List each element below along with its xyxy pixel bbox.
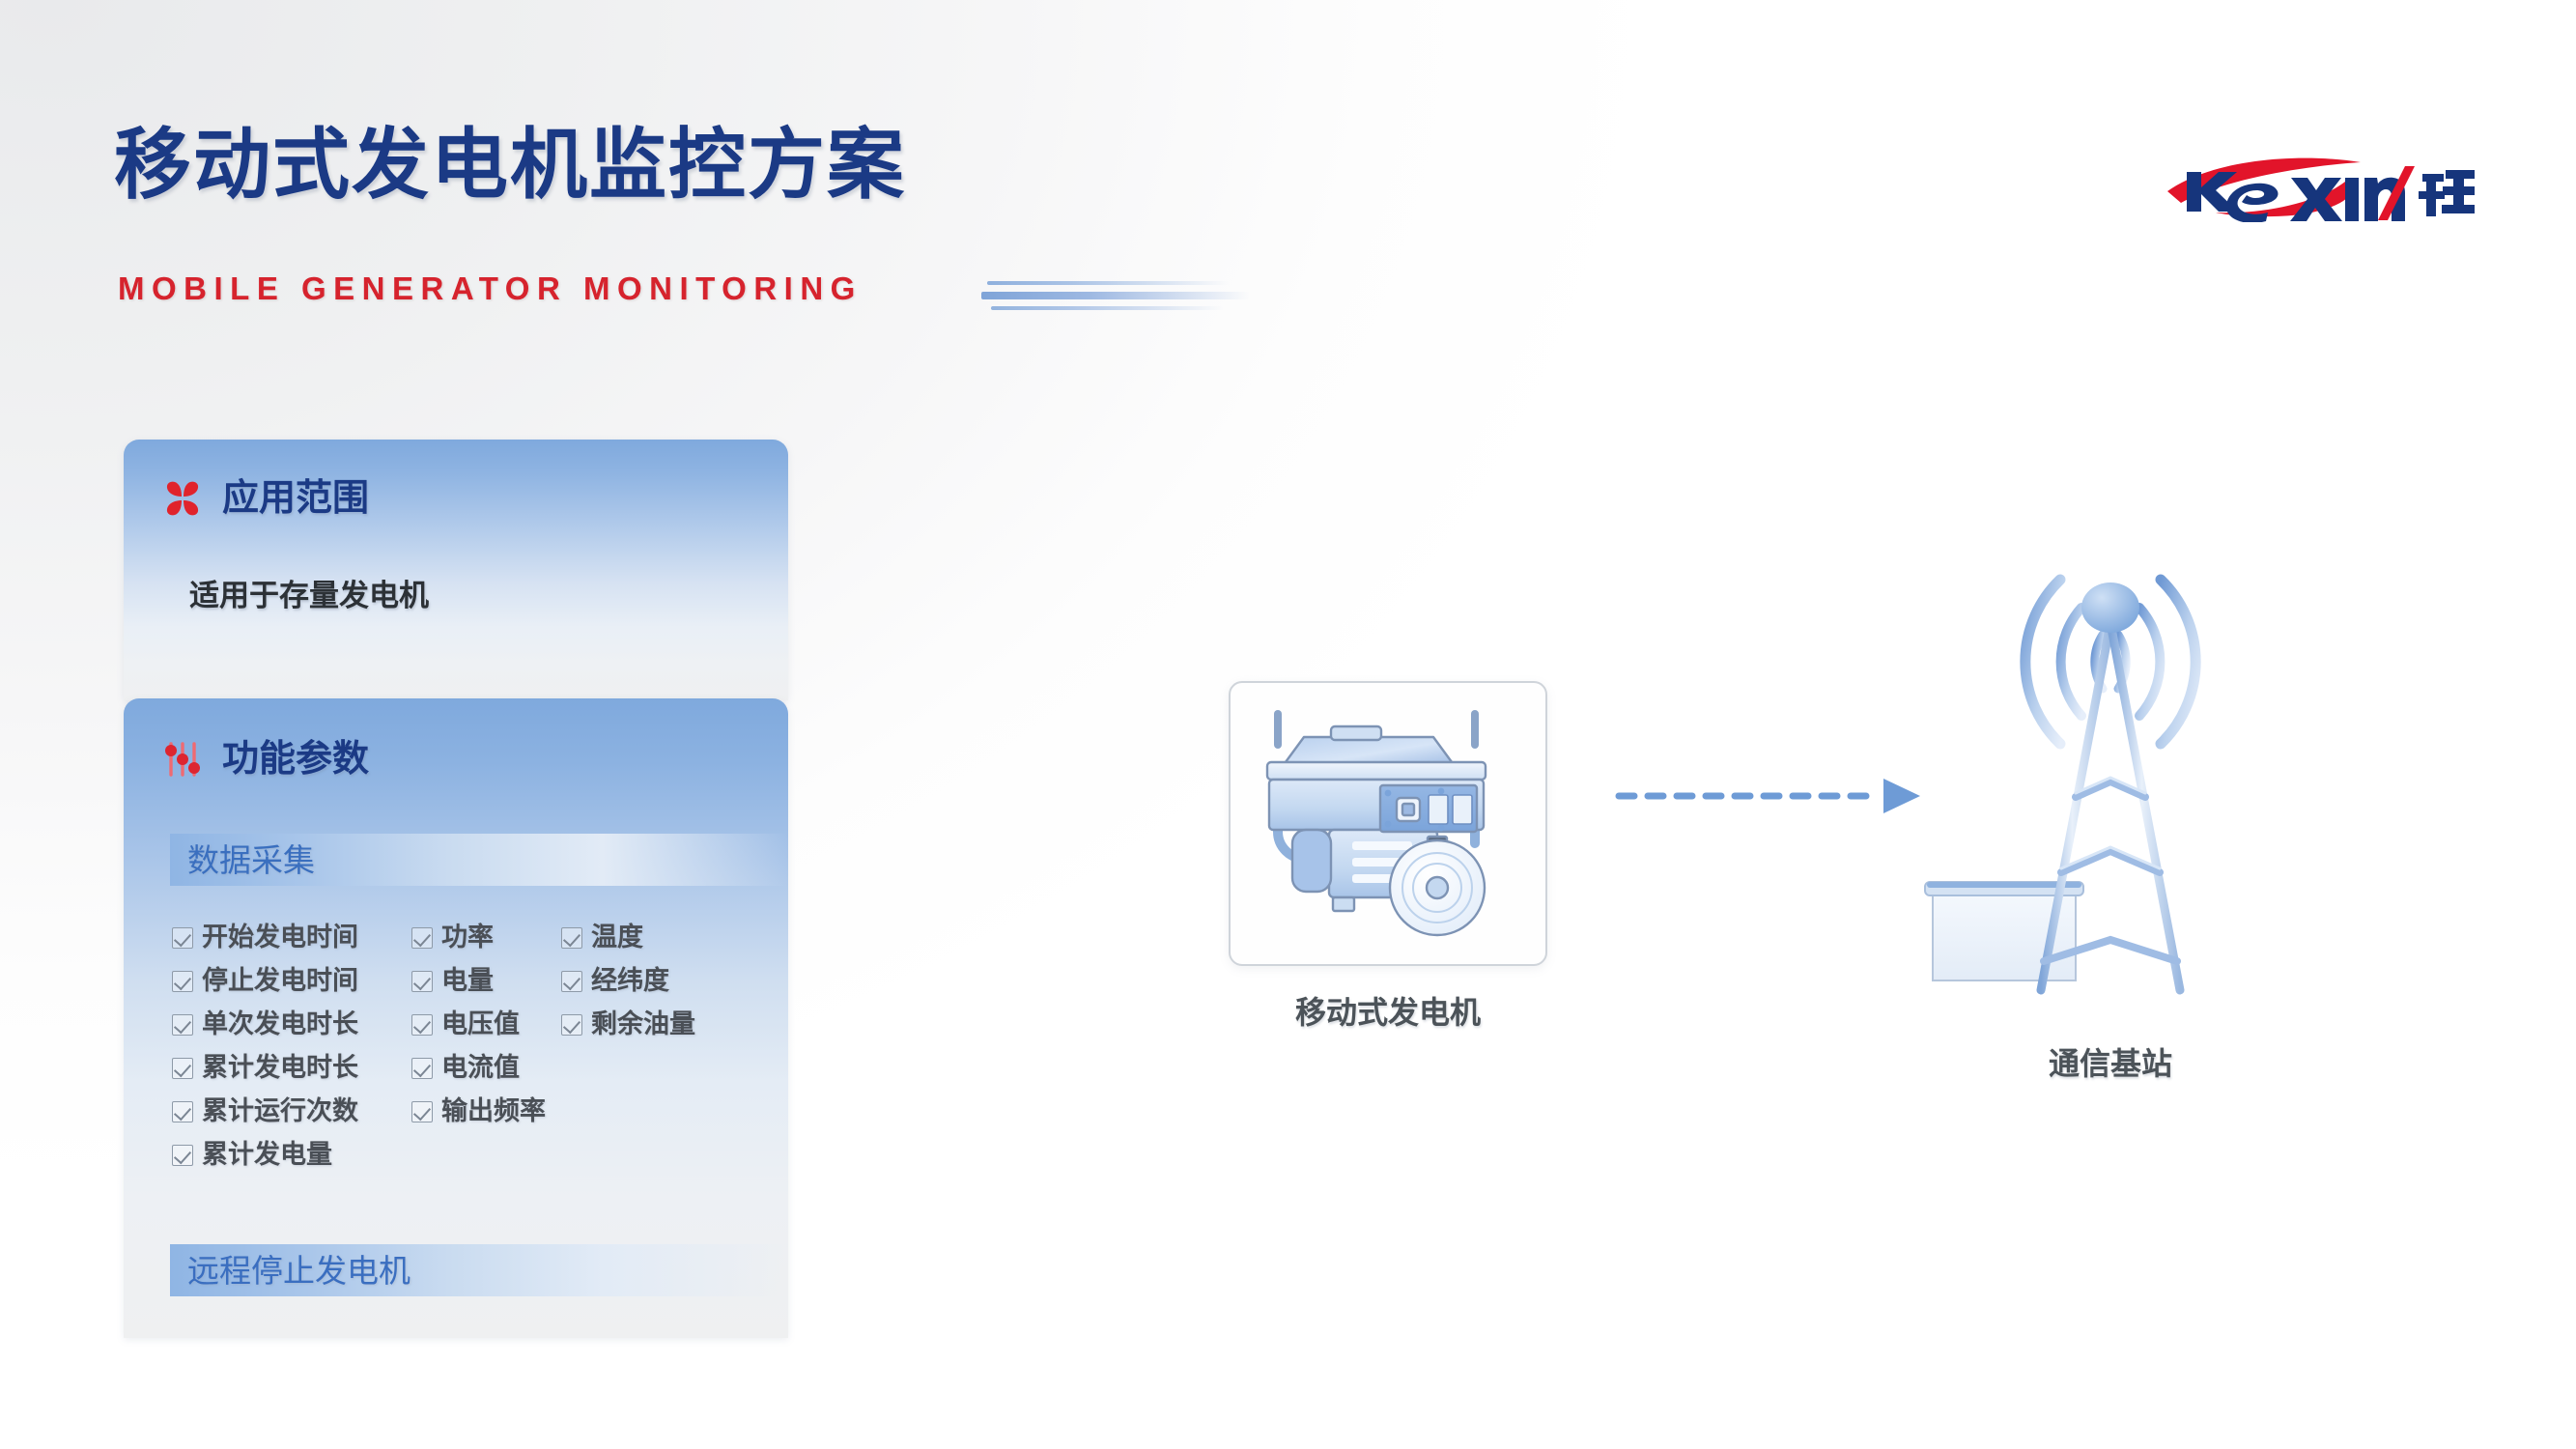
checklist-item[interactable]: 开始发电时间 <box>172 916 411 959</box>
checkbox-icon[interactable] <box>172 1145 193 1166</box>
checklist-item[interactable]: 停止发电时间 <box>172 959 411 1003</box>
checklist-item[interactable]: 电流值 <box>411 1046 561 1090</box>
checklist-item-label: 累计发电时长 <box>202 1055 358 1081</box>
checklist-item-label: 剩余油量 <box>591 1011 695 1037</box>
checklist-item[interactable]: 电压值 <box>411 1003 561 1046</box>
header-decoration-lines <box>987 278 1258 313</box>
checklist-item-label: 温度 <box>591 924 643 951</box>
checklist-item[interactable]: 经纬度 <box>561 959 790 1003</box>
sliders-icon <box>162 739 203 780</box>
checkbox-icon[interactable] <box>172 927 193 949</box>
checklist-item[interactable]: 累计发电时长 <box>172 1046 411 1090</box>
page-title: 移动式发电机监控方案 <box>114 127 906 204</box>
checklist-item-label: 电流值 <box>441 1055 520 1081</box>
checkbox-icon[interactable] <box>411 927 433 949</box>
generator-label: 移动式发电机 <box>1229 997 1547 1028</box>
section-label-data-collection: 数据采集 <box>187 844 315 876</box>
checkbox-icon[interactable] <box>411 1101 433 1122</box>
generator-icon <box>1248 708 1534 944</box>
checklist-item-label: 开始发电时间 <box>202 924 358 951</box>
checkbox-icon[interactable] <box>172 1101 193 1122</box>
slide-canvas: 移动式发电机监控方案 MOBILE GENERATOR MONITORING <box>0 0 2576 1449</box>
checklist-item[interactable]: 累计发电量 <box>172 1133 411 1177</box>
application-scope-text: 适用于存量发电机 <box>189 581 429 611</box>
section-label-remote-stop: 远程停止发电机 <box>187 1255 410 1287</box>
card-title-function-parameters: 功能参数 <box>222 741 369 778</box>
checklist-item[interactable]: 功率 <box>411 916 561 959</box>
checklist-item[interactable]: 单次发电时长 <box>172 1003 411 1046</box>
section-chip-data-collection: 数据采集 <box>170 834 788 886</box>
checklist-item[interactable]: 温度 <box>561 916 790 959</box>
checklist-item-label: 电压值 <box>441 1011 520 1037</box>
checkbox-icon[interactable] <box>561 971 582 992</box>
card-application-scope[interactable]: 应用范围 适用于存量发电机 <box>124 440 788 700</box>
card-header-application-scope: 应用范围 <box>162 478 369 519</box>
data-collection-checklist: 开始发电时间 功率 温度 停止发电时间 电量 经纬度 单次发电时长 电压值 剩余… <box>172 916 790 1177</box>
card-title-application-scope: 应用范围 <box>222 480 369 517</box>
checkbox-icon[interactable] <box>561 927 582 949</box>
checkbox-icon[interactable] <box>172 1058 193 1079</box>
checklist-item[interactable]: 输出频率 <box>411 1090 561 1133</box>
checkbox-icon[interactable] <box>411 971 433 992</box>
checkbox-icon[interactable] <box>172 1014 193 1036</box>
checklist-item-label: 输出频率 <box>441 1098 546 1124</box>
checklist-item-label: 累计发电量 <box>202 1142 332 1168</box>
card-header-function-parameters: 功能参数 <box>162 739 369 780</box>
checkbox-icon[interactable] <box>411 1058 433 1079</box>
page-subtitle: MOBILE GENERATOR MONITORING <box>118 272 863 304</box>
dashed-arrow-right-icon <box>1615 773 1924 819</box>
card-function-parameters[interactable]: 功能参数 数据采集 开始发电时间 功率 温度 停止发电时间 电量 经纬度 单次发… <box>124 698 788 1338</box>
generator-image-frame <box>1229 681 1547 966</box>
checklist-item[interactable]: 剩余油量 <box>561 1003 790 1046</box>
cell-tower-icon <box>1917 507 2304 1048</box>
checklist-item-label: 电量 <box>441 968 494 994</box>
clover-icon <box>162 478 203 519</box>
section-chip-remote-stop[interactable]: 远程停止发电机 <box>170 1244 788 1296</box>
checkbox-icon[interactable] <box>411 1014 433 1036</box>
checkbox-icon[interactable] <box>172 971 193 992</box>
kexin-logo <box>2156 153 2475 222</box>
checklist-item-label: 停止发电时间 <box>202 968 358 994</box>
checklist-item[interactable]: 累计运行次数 <box>172 1090 411 1133</box>
checklist-item[interactable]: 电量 <box>411 959 561 1003</box>
checklist-item-label: 单次发电时长 <box>202 1011 358 1037</box>
checklist-item-label: 经纬度 <box>591 968 669 994</box>
checkbox-icon[interactable] <box>561 1014 582 1036</box>
base-station-label: 通信基站 <box>1917 1048 2304 1079</box>
checklist-item-label: 累计运行次数 <box>202 1098 358 1124</box>
checklist-item-label: 功率 <box>441 924 494 951</box>
